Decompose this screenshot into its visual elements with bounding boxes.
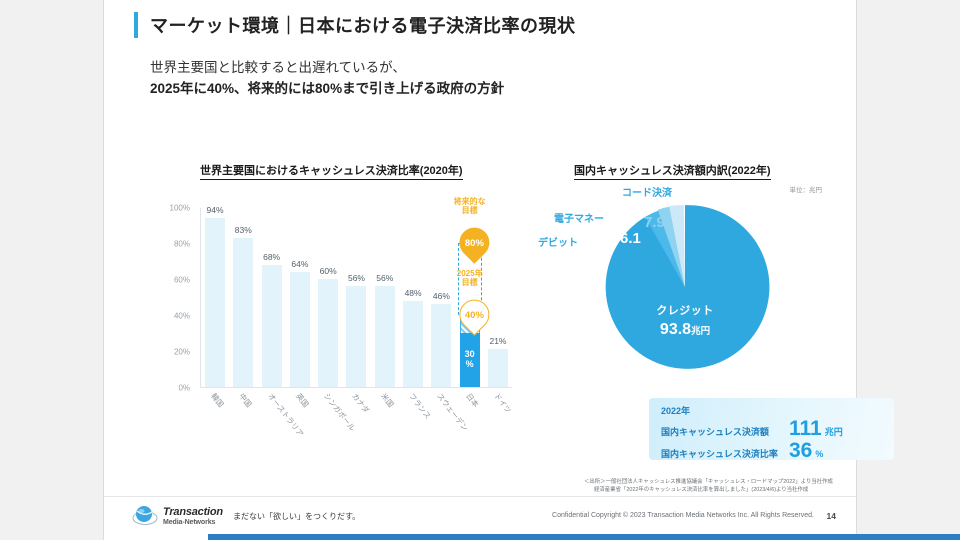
y-axis-tick: 80% [174,240,190,249]
bar-slot: 46%スウェーデン [431,208,451,387]
x-axis-label: 英国 [293,391,311,410]
logo-line-1: Transaction [163,507,223,518]
copyright-text: Confidential Copyright © 2023 Transactio… [552,512,814,519]
summary-box: 2022年 国内キャッシュレス決済額 111 兆円 国内キャッシュレス決済比率 … [649,398,894,460]
summary-year: 2022年 [661,404,884,417]
bar-value-label: 46% [433,291,450,301]
x-axis-label: フランス [406,391,433,421]
bar-slot: 68%オーストラリア [262,208,282,387]
subtitle-line-1: 世界主要国と比較すると出遅れているが、 [150,58,504,79]
y-axis-tick: 100% [170,204,190,213]
logo-wordmark: Transaction Media-Networks [163,507,223,526]
bar-slot: 48%フランス [403,208,423,387]
bar-value-label: 60% [320,266,337,276]
subtitle-line-2-text: 2025年に40%、将来的には80%まで引き上げる政府の方針 [150,81,504,96]
summary-row-value: 111 [789,418,822,439]
bottom-accent-bar [208,534,960,540]
bar-value-label: 64% [291,259,308,269]
pie-center-name: クレジット [596,302,774,318]
summary-row-label: 国内キャッシュレス決済額 [661,425,789,438]
x-axis-label: 日本 [463,391,481,410]
pie-callout-emoney-label: 電子マネー [554,210,604,225]
summary-row: 国内キャッシュレス決済比率 36 % [661,440,884,461]
bar-slot: 83%中国 [233,208,253,387]
bar [431,304,451,387]
bar-value-label: 56% [348,273,365,283]
left-gutter [0,0,104,540]
bar-value-label: 83% [235,225,252,235]
x-axis-label: 韓国 [208,391,226,410]
summary-row-value: 36 [789,440,812,461]
bar-value-label: 30% [465,350,475,369]
source-note-line-2: 経済産業省「2022年のキャッシュレス決済比率を算出しました」(2023/4/6… [584,486,924,494]
bar [375,286,395,387]
x-axis-label: ドイツ [491,391,514,416]
bar-value-label: 56% [376,273,393,283]
pie-chart-unit: 単位：兆円 [790,184,823,194]
page-title: マーケット環境｜日本における電子決済比率の現状 [134,12,576,38]
bar-chart-panel: 世界主要国におけるキャッシュレス決済比率(2020年) 0%20%40%60%8… [144,150,544,470]
pie-center-number: 93.8 [660,321,691,338]
x-axis-label: 米国 [378,391,396,410]
bar [488,349,508,387]
bar-slot: 64%英国 [290,208,310,387]
bar-series: 94%韓国83%中国68%オーストラリア64%英国60%シンガポール56%カナダ… [201,208,512,387]
pie-callout-debit-label: デビット [538,234,578,249]
bar-value-label: 68% [263,252,280,262]
pie-callout-emoney-value: 6.1 [620,230,641,247]
japan-future-target-value: 80% [465,237,484,248]
globe-icon [132,503,158,529]
title-text: マーケット環境｜日本における電子決済比率の現状 [150,12,576,38]
japan-future-target-caption: 将来的な目標 [454,197,486,215]
japan-2025-target-value: 40% [465,309,484,320]
japan-2025-target-caption: 2025年目標 [457,269,483,287]
x-axis-label: カナダ [350,391,373,416]
bar [346,286,366,387]
pie-callout-code-value: 7.9 [644,214,665,231]
y-axis-tick: 40% [174,312,190,321]
subtitle-block: 世界主要国と比較すると出遅れているが、 2025年に40%、将来的には80%まで… [150,58,504,100]
page-number: 14 [827,511,836,521]
subtitle-line-2: 2025年に40%、将来的には80%まで引き上げる政府の方針 [150,79,504,100]
summary-row-unit: 兆円 [825,425,843,438]
pie-callout-code-label: コード決済 [622,184,672,199]
summary-row: 国内キャッシュレス決済額 111 兆円 [661,418,884,439]
summary-row-label: 国内キャッシュレス決済比率 [661,447,789,460]
bar-chart-title: 世界主要国におけるキャッシュレス決済比率(2020年) [200,162,463,180]
bar-slot: 94%韓国 [205,208,225,387]
pie-center-unit: 兆円 [691,326,710,337]
bar [233,238,253,387]
bar-chart-y-axis: 0%20%40%60%80%100% [144,208,196,388]
company-logo: Transaction Media-Networks まだない「欲しい」をつくり… [132,503,360,529]
footer-divider [104,496,856,497]
bar-value-label: 48% [405,288,422,298]
bar [205,218,225,387]
summary-row-unit: % [815,449,823,459]
pie-center-value: 93.8兆円 [596,321,774,339]
logo-line-2: Media-Networks [163,519,223,526]
x-axis-label: 中国 [237,391,255,410]
source-note-line-1: ＜出所＞一般社団法人キャッシュレス推進協議会「キャッシュレス・ロードマップ202… [584,478,924,486]
bar [318,279,338,387]
bar-slot: 56%カナダ [346,208,366,387]
bar [290,272,310,387]
tagline: まだない「欲しい」をつくりだす。 [233,511,360,522]
bar-value-label: 94% [206,205,223,215]
y-axis-tick: 20% [174,348,190,357]
pie-center-label: クレジット 93.8兆円 [596,302,774,339]
pie-chart-title: 国内キャッシュレス決済額内訳(2022年) [574,162,771,180]
pie-chart-graphic: クレジット 93.8兆円 デビット 3.2 電子マネー 6.1 コード決済 7.… [596,198,774,376]
bar-slot: 21%ドイツ [488,208,508,387]
bar-slot: 80%将来的な目標40%2025年目標30%日本 [460,208,480,387]
bar-chart-plot: 94%韓国83%中国68%オーストラリア64%英国60%シンガポール56%カナダ… [200,208,512,388]
slide-canvas: マーケット環境｜日本における電子決済比率の現状 世界主要国と比較すると出遅れてい… [104,0,856,540]
bar [403,301,423,387]
title-accent-bar [134,12,138,38]
bar-slot: 60%シンガポール [318,208,338,387]
pie-callout-debit-value: 3.2 [588,248,609,265]
bar-slot: 56%米国 [375,208,395,387]
y-axis-tick: 0% [178,384,190,393]
pie-svg [596,198,774,376]
bar [262,265,282,387]
slide-root: マーケット環境｜日本における電子決済比率の現状 世界主要国と比較すると出遅れてい… [0,0,960,540]
bar-value-label: 21% [489,336,506,346]
source-note: ＜出所＞一般社団法人キャッシュレス推進協議会「キャッシュレス・ロードマップ202… [584,478,924,495]
y-axis-tick: 60% [174,276,190,285]
